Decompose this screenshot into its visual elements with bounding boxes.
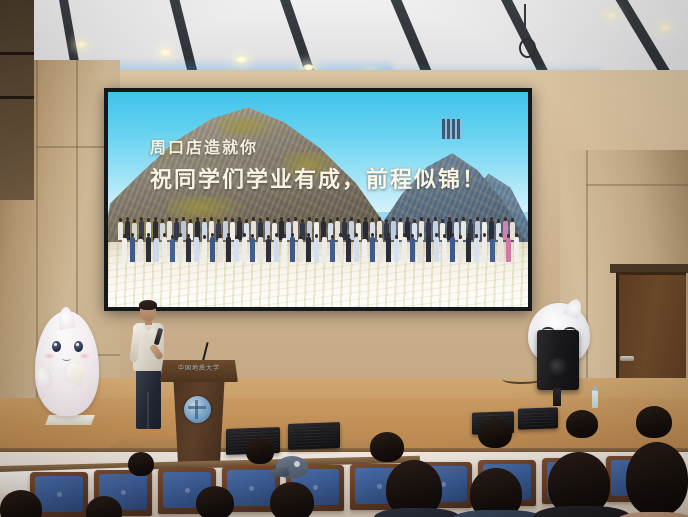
photo-watermark (442, 119, 462, 139)
projection-overlay-line-1: 周口店造就你 (150, 134, 258, 158)
audience-head (478, 418, 512, 448)
audience-shoulders (534, 506, 630, 517)
audience-head (636, 406, 672, 438)
mascot-eye-left (52, 341, 61, 352)
cap-logo (294, 461, 300, 467)
auditorium-scene: 周口店造就你 祝同学们学业有成，前程似锦！ (0, 0, 688, 517)
audience-shoulders (452, 510, 544, 517)
mascot-standee-left (31, 307, 103, 432)
audience-cap (276, 456, 308, 478)
door-handle[interactable] (620, 356, 634, 361)
ceiling-hook (524, 4, 526, 40)
audience-shoulders (374, 508, 460, 517)
downlight (76, 41, 87, 48)
audience-head (370, 432, 404, 462)
mascot-blush-right (79, 353, 90, 359)
water-bottle (592, 390, 598, 408)
audience-head-front (626, 442, 688, 516)
podium-engraved-text: 中国地质大学 (160, 363, 238, 372)
presenter-hair (139, 300, 157, 310)
downlight (236, 56, 247, 63)
audience-head (246, 438, 274, 464)
pa-speaker-stand (553, 388, 561, 406)
mascot-eye-right (74, 341, 83, 352)
projection-overlay-line-2: 祝同学们学业有成，前程似锦！ (108, 162, 528, 194)
downlight (160, 49, 171, 56)
pa-speaker (537, 330, 579, 390)
audience-head-front (270, 482, 314, 517)
left-wall-dark-recess (0, 0, 34, 200)
downlight (606, 12, 617, 19)
photo-group-crowd (114, 220, 524, 262)
audience-head (566, 410, 598, 438)
mascot-mouth-left (62, 356, 71, 361)
audience-head-front (196, 486, 234, 517)
projection-screen: 周口店造就你 祝同学们学业有成，前程似锦！ (108, 92, 528, 307)
downlight (660, 24, 671, 31)
projection-screen-frame: 周口店造就你 祝同学们学业有成，前程似锦！ (104, 88, 532, 311)
university-emblem (184, 396, 211, 423)
mascot-head-tip-left (56, 306, 75, 330)
mascot-blush-left (44, 353, 55, 359)
audience-seating (0, 424, 688, 517)
audience-head (128, 452, 154, 476)
